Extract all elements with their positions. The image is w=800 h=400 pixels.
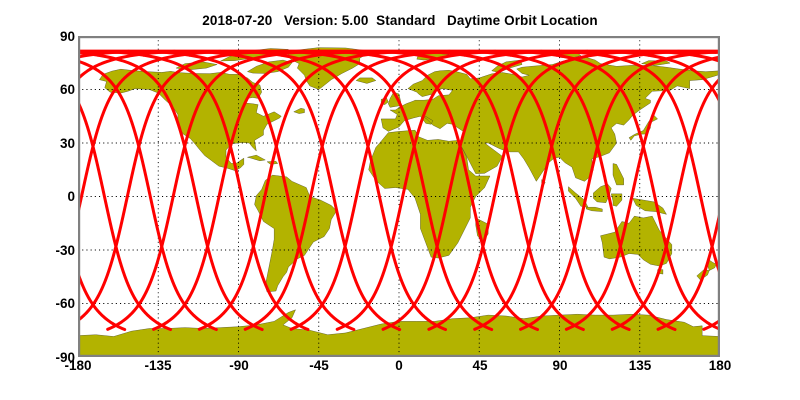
orbit-location-figure: 2018-07-20 Version: 5.00 Standard Daytim…	[0, 0, 800, 400]
map-plot-area	[78, 36, 720, 357]
y-axis-tick-neg60: -60	[55, 296, 75, 311]
x-axis-tick-90: 90	[530, 358, 590, 373]
x-axis-tick-neg135: -135	[128, 358, 188, 373]
y-axis-tick-60: 60	[60, 82, 75, 97]
y-axis-tick-neg30: -30	[55, 243, 75, 258]
y-axis-tick-30: 30	[60, 136, 75, 151]
y-axis-tick-0: 0	[67, 189, 75, 204]
x-axis-tick-0: 0	[369, 358, 429, 373]
x-axis-tick-135: 135	[610, 358, 670, 373]
x-axis-tick-neg180: -180	[48, 358, 108, 373]
x-axis-tick-neg45: -45	[289, 358, 349, 373]
x-axis-tick-neg90: -90	[209, 358, 269, 373]
world-map-svg	[78, 36, 720, 357]
x-axis-tick-180: 180	[690, 358, 750, 373]
y-axis-tick-90: 90	[60, 29, 75, 44]
x-axis-tick-45: 45	[450, 358, 510, 373]
figure-title: 2018-07-20 Version: 5.00 Standard Daytim…	[0, 13, 800, 28]
